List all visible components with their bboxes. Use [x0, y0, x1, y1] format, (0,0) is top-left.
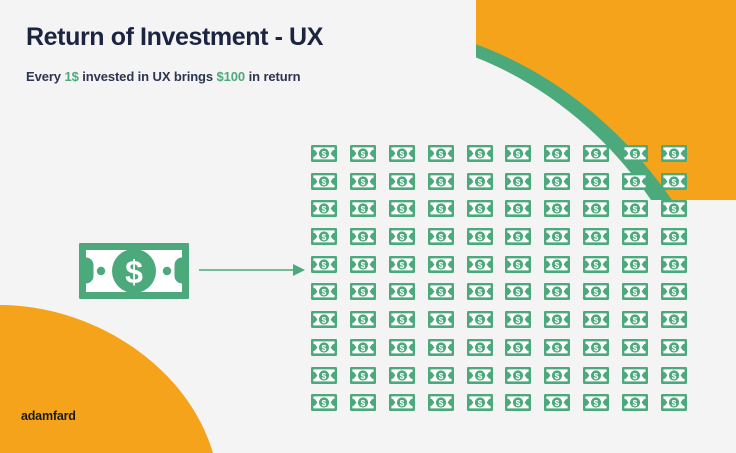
small-bill-right-dot — [408, 263, 410, 265]
money-bill-small-svg: $ — [311, 256, 337, 273]
small-bill-dollar-sign: $ — [633, 343, 638, 353]
small-bill-dollar-sign: $ — [399, 398, 404, 408]
small-bill-right-dot — [525, 291, 527, 293]
money-bill-small-svg: $ — [311, 367, 337, 384]
small-bill-left-dot — [354, 180, 356, 182]
small-bill-left-dot — [432, 401, 434, 403]
small-bill-right-dot — [603, 374, 605, 376]
money-bill-small-icon: $ — [389, 145, 415, 162]
small-bill-right-dot — [447, 235, 449, 237]
small-bill-dollar-sign: $ — [438, 371, 443, 381]
money-bill-small-icon: $ — [467, 228, 493, 245]
small-bill-right-dot — [408, 291, 410, 293]
money-bill-small-icon: $ — [311, 228, 337, 245]
small-bill-left-dot — [548, 318, 550, 320]
money-bill-small-svg: $ — [389, 311, 415, 328]
small-bill-dollar-sign: $ — [438, 232, 443, 242]
money-bill-small-svg: $ — [311, 283, 337, 300]
small-bill-dollar-sign: $ — [672, 232, 677, 242]
money-bill-small-icon: $ — [583, 339, 609, 356]
small-bill-right-dot — [370, 152, 372, 154]
small-bill-right-dot — [564, 208, 566, 210]
money-bill-small-svg: $ — [389, 339, 415, 356]
small-bill-dollar-sign: $ — [477, 371, 482, 381]
money-bill-small-svg: $ — [583, 311, 609, 328]
money-bill-small-svg: $ — [583, 394, 609, 411]
money-bill-small-svg: $ — [311, 339, 337, 356]
subtitle-highlight-return: $100 — [217, 69, 246, 84]
money-bill-small-svg: $ — [350, 394, 376, 411]
money-bill-small-svg: $ — [428, 173, 454, 190]
money-bill-small-icon: $ — [505, 228, 531, 245]
small-bill-right-dot — [331, 208, 333, 210]
small-bill-dollar-sign: $ — [322, 232, 327, 242]
money-bill-small-svg: $ — [544, 394, 570, 411]
money-bill-small-svg: $ — [544, 339, 570, 356]
small-bill-right-dot — [603, 401, 605, 403]
money-bill-small-icon: $ — [311, 173, 337, 190]
money-bill-small-svg: $ — [622, 339, 648, 356]
money-bill-small-icon: $ — [544, 394, 570, 411]
money-bill-small-icon: $ — [350, 283, 376, 300]
small-bill-left-dot — [432, 291, 434, 293]
money-bill-small-svg: $ — [544, 256, 570, 273]
money-bill-small-svg: $ — [661, 228, 687, 245]
page-subtitle: Every 1$ invested in UX brings $100 in r… — [26, 69, 323, 86]
small-bill-dollar-sign: $ — [633, 398, 638, 408]
small-bill-right-dot — [642, 346, 644, 348]
small-bill-left-dot — [393, 346, 395, 348]
money-bill-small-icon: $ — [505, 256, 531, 273]
small-bill-right-dot — [447, 374, 449, 376]
small-bill-dollar-sign: $ — [594, 232, 599, 242]
money-bill-small-svg: $ — [661, 200, 687, 217]
money-bill-small-icon: $ — [350, 339, 376, 356]
money-bill-small-svg: $ — [389, 173, 415, 190]
small-bill-left-dot — [315, 152, 317, 154]
small-bill-dollar-sign: $ — [322, 371, 327, 381]
money-bill-small-icon: $ — [311, 367, 337, 384]
small-bill-left-dot — [354, 235, 356, 237]
small-bill-right-dot — [447, 291, 449, 293]
money-bill-small-icon: $ — [350, 394, 376, 411]
money-bill-small-icon: $ — [622, 283, 648, 300]
small-bill-dollar-sign: $ — [633, 149, 638, 159]
small-bill-right-dot — [603, 235, 605, 237]
small-bill-dollar-sign: $ — [555, 343, 560, 353]
small-bill-dollar-sign: $ — [594, 204, 599, 214]
small-bill-right-dot — [681, 235, 683, 237]
small-bill-left-dot — [509, 401, 511, 403]
money-bill-small-icon: $ — [467, 173, 493, 190]
small-bill-right-dot — [331, 401, 333, 403]
small-bill-right-dot — [564, 401, 566, 403]
small-bill-dollar-sign: $ — [361, 149, 366, 159]
small-bill-right-dot — [486, 263, 488, 265]
money-bill-small-icon: $ — [661, 311, 687, 328]
small-bill-dollar-sign: $ — [516, 149, 521, 159]
small-bill-left-dot — [626, 401, 628, 403]
small-bill-dollar-sign: $ — [399, 315, 404, 325]
money-bill-small-icon: $ — [622, 173, 648, 190]
money-bill-small-svg: $ — [544, 283, 570, 300]
money-bill-small-icon: $ — [505, 200, 531, 217]
money-bill-small-svg: $ — [661, 394, 687, 411]
small-bill-dollar-sign: $ — [555, 232, 560, 242]
small-bill-left-dot — [548, 263, 550, 265]
small-bill-right-dot — [486, 346, 488, 348]
money-bill-small-svg: $ — [583, 367, 609, 384]
money-bill-small-icon: $ — [467, 283, 493, 300]
small-bill-left-dot — [509, 318, 511, 320]
small-bill-dollar-sign: $ — [516, 260, 521, 270]
small-bill-right-dot — [408, 318, 410, 320]
money-bill-small-svg: $ — [350, 173, 376, 190]
money-bill-small-svg: $ — [350, 311, 376, 328]
money-bill-small-icon: $ — [311, 339, 337, 356]
small-bill-right-dot — [642, 318, 644, 320]
small-bill-left-dot — [315, 235, 317, 237]
money-bill-small-icon: $ — [622, 394, 648, 411]
small-bill-dollar-sign: $ — [594, 398, 599, 408]
small-bill-left-dot — [315, 291, 317, 293]
money-bill-small-icon: $ — [428, 256, 454, 273]
money-bill-small-icon: $ — [622, 339, 648, 356]
money-bill-small-svg: $ — [389, 256, 415, 273]
small-bill-left-dot — [432, 152, 434, 154]
small-bill-left-dot — [665, 291, 667, 293]
small-bill-left-dot — [470, 263, 472, 265]
small-bill-left-dot — [470, 180, 472, 182]
money-bill-small-svg: $ — [311, 228, 337, 245]
small-bill-left-dot — [432, 346, 434, 348]
money-bill-small-svg: $ — [350, 339, 376, 356]
small-bill-right-dot — [447, 346, 449, 348]
small-bill-left-dot — [626, 263, 628, 265]
small-bill-right-dot — [486, 152, 488, 154]
small-bill-right-dot — [642, 235, 644, 237]
money-bill-small-icon: $ — [428, 228, 454, 245]
small-bill-right-dot — [447, 318, 449, 320]
money-bill-small-icon: $ — [311, 394, 337, 411]
small-bill-dollar-sign: $ — [399, 260, 404, 270]
small-bill-left-dot — [393, 152, 395, 154]
small-bill-dollar-sign: $ — [361, 398, 366, 408]
small-bill-left-dot — [393, 374, 395, 376]
small-bill-right-dot — [525, 318, 527, 320]
money-bill-small-icon: $ — [350, 228, 376, 245]
small-bill-left-dot — [470, 208, 472, 210]
money-bill-small-icon: $ — [661, 173, 687, 190]
small-bill-left-dot — [354, 291, 356, 293]
small-bill-left-dot — [665, 346, 667, 348]
small-bill-dollar-sign: $ — [399, 204, 404, 214]
small-bill-dollar-sign: $ — [438, 260, 443, 270]
small-bill-dollar-sign: $ — [322, 149, 327, 159]
money-bill-small-svg: $ — [505, 394, 531, 411]
bill-right-dot — [163, 267, 171, 275]
money-bill-large-svg: $ — [79, 243, 189, 299]
money-bill-small-svg: $ — [467, 228, 493, 245]
small-bill-dollar-sign: $ — [594, 371, 599, 381]
money-bill-small-svg: $ — [661, 173, 687, 190]
small-bill-left-dot — [315, 374, 317, 376]
small-bill-left-dot — [315, 346, 317, 348]
money-bill-small-svg: $ — [544, 367, 570, 384]
money-bill-small-icon: $ — [544, 367, 570, 384]
money-bill-small-icon: $ — [661, 339, 687, 356]
small-bill-left-dot — [548, 208, 550, 210]
money-bill-small-svg: $ — [467, 173, 493, 190]
small-bill-right-dot — [603, 208, 605, 210]
small-bill-left-dot — [665, 401, 667, 403]
small-bill-left-dot — [587, 152, 589, 154]
money-bill-small-svg: $ — [622, 311, 648, 328]
small-bill-dollar-sign: $ — [438, 177, 443, 187]
small-bill-left-dot — [470, 374, 472, 376]
small-bill-dollar-sign: $ — [594, 260, 599, 270]
small-bill-dollar-sign: $ — [477, 204, 482, 214]
money-bill-small-svg: $ — [505, 339, 531, 356]
money-bill-small-svg: $ — [505, 228, 531, 245]
small-bill-left-dot — [354, 318, 356, 320]
small-bill-dollar-sign: $ — [399, 343, 404, 353]
small-bill-dollar-sign: $ — [477, 398, 482, 408]
small-bill-dollar-sign: $ — [633, 204, 638, 214]
money-bill-small-icon: $ — [583, 145, 609, 162]
header: Return of Investment - UX Every 1$ inves… — [26, 22, 323, 86]
orange-blob-shape — [0, 305, 213, 453]
small-bill-right-dot — [370, 346, 372, 348]
money-bill-small-icon: $ — [311, 311, 337, 328]
small-bill-dollar-sign: $ — [322, 315, 327, 325]
small-bill-left-dot — [315, 180, 317, 182]
small-bill-dollar-sign: $ — [516, 371, 521, 381]
money-bill-small-svg: $ — [350, 283, 376, 300]
money-bill-small-icon: $ — [583, 200, 609, 217]
small-bill-left-dot — [315, 401, 317, 403]
small-bill-left-dot — [548, 346, 550, 348]
small-bill-right-dot — [370, 401, 372, 403]
money-bill-small-icon: $ — [428, 200, 454, 217]
small-bill-right-dot — [681, 318, 683, 320]
small-bill-right-dot — [331, 291, 333, 293]
small-bill-left-dot — [665, 180, 667, 182]
small-bill-dollar-sign: $ — [555, 371, 560, 381]
small-bill-right-dot — [642, 291, 644, 293]
money-bill-small-icon: $ — [311, 200, 337, 217]
small-bill-left-dot — [393, 208, 395, 210]
money-bill-small-svg: $ — [544, 311, 570, 328]
money-bill-small-icon: $ — [622, 228, 648, 245]
money-bill-small-svg: $ — [622, 173, 648, 190]
money-bill-small-svg: $ — [505, 256, 531, 273]
small-bill-dollar-sign: $ — [438, 288, 443, 298]
money-bill-small-icon: $ — [505, 283, 531, 300]
subtitle-part-3: in return — [245, 69, 300, 84]
small-bill-left-dot — [509, 263, 511, 265]
small-bill-right-dot — [408, 180, 410, 182]
small-bill-right-dot — [408, 208, 410, 210]
small-bill-left-dot — [354, 263, 356, 265]
small-bill-dollar-sign: $ — [322, 343, 327, 353]
small-bill-dollar-sign: $ — [399, 371, 404, 381]
money-bill-small-svg: $ — [622, 394, 648, 411]
small-bill-dollar-sign: $ — [594, 177, 599, 187]
money-bill-small-icon: $ — [467, 394, 493, 411]
subtitle-highlight-invested: 1$ — [64, 69, 78, 84]
small-bill-right-dot — [331, 374, 333, 376]
money-bill-small-icon: $ — [389, 339, 415, 356]
small-bill-right-dot — [408, 401, 410, 403]
small-bill-dollar-sign: $ — [672, 398, 677, 408]
small-bill-dollar-sign: $ — [399, 232, 404, 242]
small-bill-dollar-sign: $ — [322, 288, 327, 298]
small-bill-dollar-sign: $ — [516, 343, 521, 353]
small-bill-right-dot — [642, 208, 644, 210]
money-bill-small-svg: $ — [389, 283, 415, 300]
money-bill-small-icon: $ — [583, 228, 609, 245]
bill-left-dot — [97, 267, 105, 275]
money-bill-small-svg: $ — [311, 311, 337, 328]
small-bill-right-dot — [564, 346, 566, 348]
small-bill-left-dot — [587, 180, 589, 182]
small-bill-left-dot — [626, 180, 628, 182]
small-bill-left-dot — [548, 374, 550, 376]
small-bill-left-dot — [315, 263, 317, 265]
money-bill-small-svg: $ — [505, 145, 531, 162]
small-bill-left-dot — [509, 291, 511, 293]
small-bill-dollar-sign: $ — [477, 343, 482, 353]
money-bill-small-icon: $ — [350, 367, 376, 384]
money-bill-small-icon: $ — [544, 256, 570, 273]
small-bill-right-dot — [525, 235, 527, 237]
money-bill-small-icon: $ — [544, 311, 570, 328]
money-bill-small-icon: $ — [389, 311, 415, 328]
money-bill-small-svg: $ — [467, 394, 493, 411]
money-bill-small-svg: $ — [350, 145, 376, 162]
small-bill-right-dot — [603, 152, 605, 154]
small-bill-dollar-sign: $ — [399, 177, 404, 187]
small-bill-right-dot — [642, 401, 644, 403]
small-bill-right-dot — [642, 152, 644, 154]
money-bill-small-svg: $ — [311, 145, 337, 162]
money-bill-small-svg: $ — [622, 367, 648, 384]
money-bill-small-svg: $ — [661, 283, 687, 300]
money-bill-small-svg: $ — [389, 145, 415, 162]
small-bill-right-dot — [525, 180, 527, 182]
small-bill-left-dot — [432, 263, 434, 265]
small-bill-left-dot — [393, 318, 395, 320]
money-bill-small-svg: $ — [311, 173, 337, 190]
money-bill-small-svg: $ — [467, 256, 493, 273]
small-bill-dollar-sign: $ — [672, 177, 677, 187]
small-bill-right-dot — [486, 291, 488, 293]
money-bill-small-icon: $ — [389, 394, 415, 411]
small-bill-left-dot — [626, 208, 628, 210]
money-bill-small-icon: $ — [428, 394, 454, 411]
money-bill-small-icon: $ — [544, 283, 570, 300]
subtitle-part-1: Every — [26, 69, 64, 84]
small-bill-left-dot — [470, 291, 472, 293]
small-bill-dollar-sign: $ — [477, 288, 482, 298]
money-bill-small-icon: $ — [622, 256, 648, 273]
money-bill-small-svg: $ — [350, 200, 376, 217]
small-bill-left-dot — [665, 263, 667, 265]
money-bill-small-icon: $ — [389, 283, 415, 300]
brand-logo: adamfard — [21, 409, 76, 423]
money-bill-small-icon: $ — [622, 200, 648, 217]
small-bill-left-dot — [548, 152, 550, 154]
small-bill-right-dot — [331, 180, 333, 182]
money-bill-small-svg: $ — [350, 228, 376, 245]
small-bill-left-dot — [587, 291, 589, 293]
small-bill-left-dot — [354, 208, 356, 210]
money-bill-small-icon: $ — [389, 173, 415, 190]
small-bill-right-dot — [681, 291, 683, 293]
small-bill-dollar-sign: $ — [361, 315, 366, 325]
small-bill-dollar-sign: $ — [633, 371, 638, 381]
money-bill-small-svg: $ — [583, 339, 609, 356]
money-bill-small-icon: $ — [428, 339, 454, 356]
bill-dollar-sign: $ — [125, 254, 143, 290]
money-bill-small-icon: $ — [505, 339, 531, 356]
small-bill-left-dot — [626, 291, 628, 293]
small-bill-dollar-sign: $ — [477, 149, 482, 159]
arrow-svg — [199, 262, 305, 278]
small-bill-left-dot — [665, 152, 667, 154]
small-bill-right-dot — [642, 263, 644, 265]
small-bill-right-dot — [525, 263, 527, 265]
money-bill-small-icon: $ — [428, 173, 454, 190]
money-bill-small-icon: $ — [661, 283, 687, 300]
small-bill-left-dot — [587, 346, 589, 348]
small-bill-right-dot — [525, 374, 527, 376]
money-bill-small-svg: $ — [583, 256, 609, 273]
small-bill-left-dot — [470, 346, 472, 348]
small-bill-left-dot — [509, 152, 511, 154]
small-bill-dollar-sign: $ — [516, 398, 521, 408]
small-bill-dollar-sign: $ — [633, 288, 638, 298]
small-bill-dollar-sign: $ — [361, 343, 366, 353]
money-bill-small-svg: $ — [622, 228, 648, 245]
money-bill-small-icon: $ — [467, 311, 493, 328]
money-bill-small-svg: $ — [505, 200, 531, 217]
small-bill-right-dot — [486, 318, 488, 320]
small-bill-left-dot — [548, 401, 550, 403]
money-bill-small-icon: $ — [505, 367, 531, 384]
small-bill-left-dot — [393, 263, 395, 265]
small-bill-right-dot — [447, 152, 449, 154]
small-bill-left-dot — [432, 374, 434, 376]
small-bill-right-dot — [603, 318, 605, 320]
small-bill-dollar-sign: $ — [438, 343, 443, 353]
small-bill-right-dot — [370, 374, 372, 376]
money-bill-small-svg: $ — [661, 256, 687, 273]
small-bill-dollar-sign: $ — [594, 149, 599, 159]
money-bill-small-svg: $ — [544, 173, 570, 190]
money-bill-small-svg: $ — [583, 173, 609, 190]
money-bill-small-svg: $ — [505, 283, 531, 300]
small-bill-left-dot — [470, 318, 472, 320]
small-bill-dollar-sign: $ — [555, 288, 560, 298]
small-bill-left-dot — [665, 235, 667, 237]
money-bill-small-icon: $ — [467, 145, 493, 162]
small-bill-left-dot — [587, 263, 589, 265]
small-bill-dollar-sign: $ — [555, 398, 560, 408]
small-bill-right-dot — [331, 235, 333, 237]
small-bill-left-dot — [432, 318, 434, 320]
